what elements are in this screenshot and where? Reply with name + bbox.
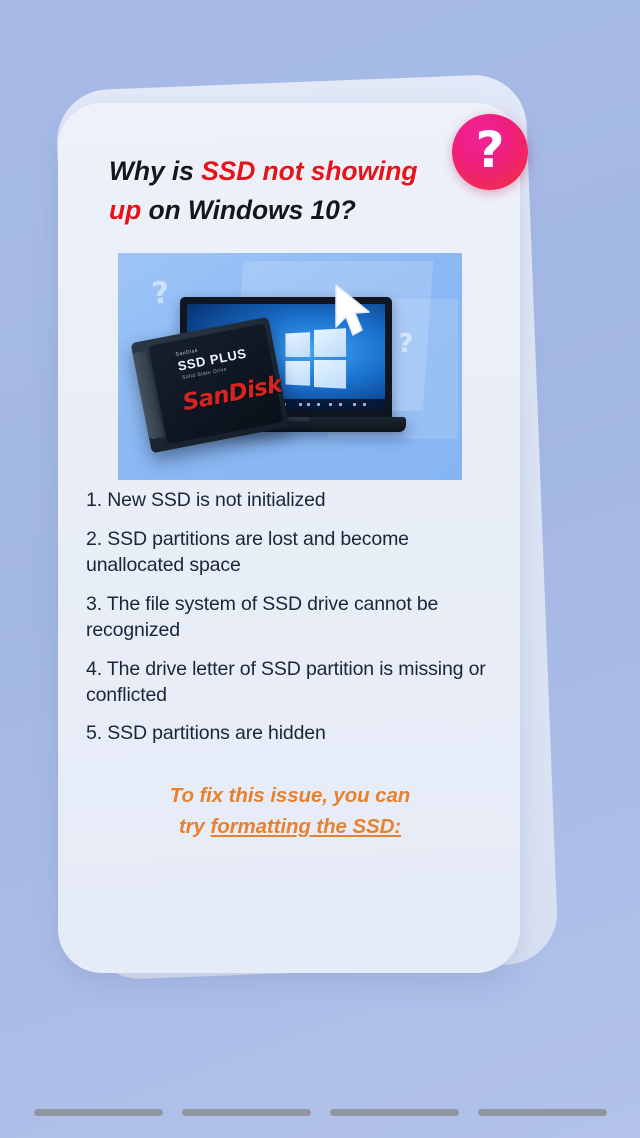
pagination-bar[interactable]	[478, 1109, 607, 1116]
list-item: 4. The drive letter of SSD partition is …	[86, 657, 498, 709]
reasons-list: 1. New SSD is not initialized 2. SSD par…	[86, 488, 498, 760]
cta-line1: To fix this issue, you can	[170, 784, 410, 807]
question-badge: ?	[452, 114, 528, 190]
title-line1-highlight: SSD not showing	[201, 156, 417, 186]
cta-link[interactable]: formatting the SSD:	[210, 815, 401, 838]
pagination-bar[interactable]	[330, 1109, 459, 1116]
question-glyph-icon: ?	[150, 278, 170, 310]
question-glyph-icon: ?	[397, 331, 414, 358]
pagination-bar[interactable]	[182, 1109, 311, 1116]
page-title: Why is SSD not showing up on Windows 10?	[109, 152, 499, 229]
list-item: 3. The file system of SSD drive cannot b…	[86, 592, 498, 644]
question-mark-icon: ?	[452, 114, 528, 190]
list-item: 2. SSD partitions are lost and become un…	[86, 527, 498, 579]
call-to-action: To fix this issue, you can try formattin…	[120, 781, 460, 843]
cta-line2-prefix: try	[179, 815, 211, 838]
illustration: ? ?	[118, 253, 462, 480]
content-card: Why is SSD not showing up on Windows 10?…	[58, 103, 520, 973]
list-item: 1. New SSD is not initialized	[86, 488, 498, 514]
cursor-arrow-icon	[330, 283, 374, 345]
title-line1-prefix: Why is	[109, 156, 201, 186]
pagination-bar[interactable]	[34, 1109, 163, 1116]
title-line2-highlight: up	[109, 195, 141, 225]
title-line2-suffix: on Windows 10?	[141, 195, 356, 225]
list-item: 5. SSD partitions are hidden	[86, 721, 498, 747]
story-card-stage: Why is SSD not showing up on Windows 10?…	[0, 0, 640, 1138]
pagination[interactable]	[0, 1109, 640, 1116]
